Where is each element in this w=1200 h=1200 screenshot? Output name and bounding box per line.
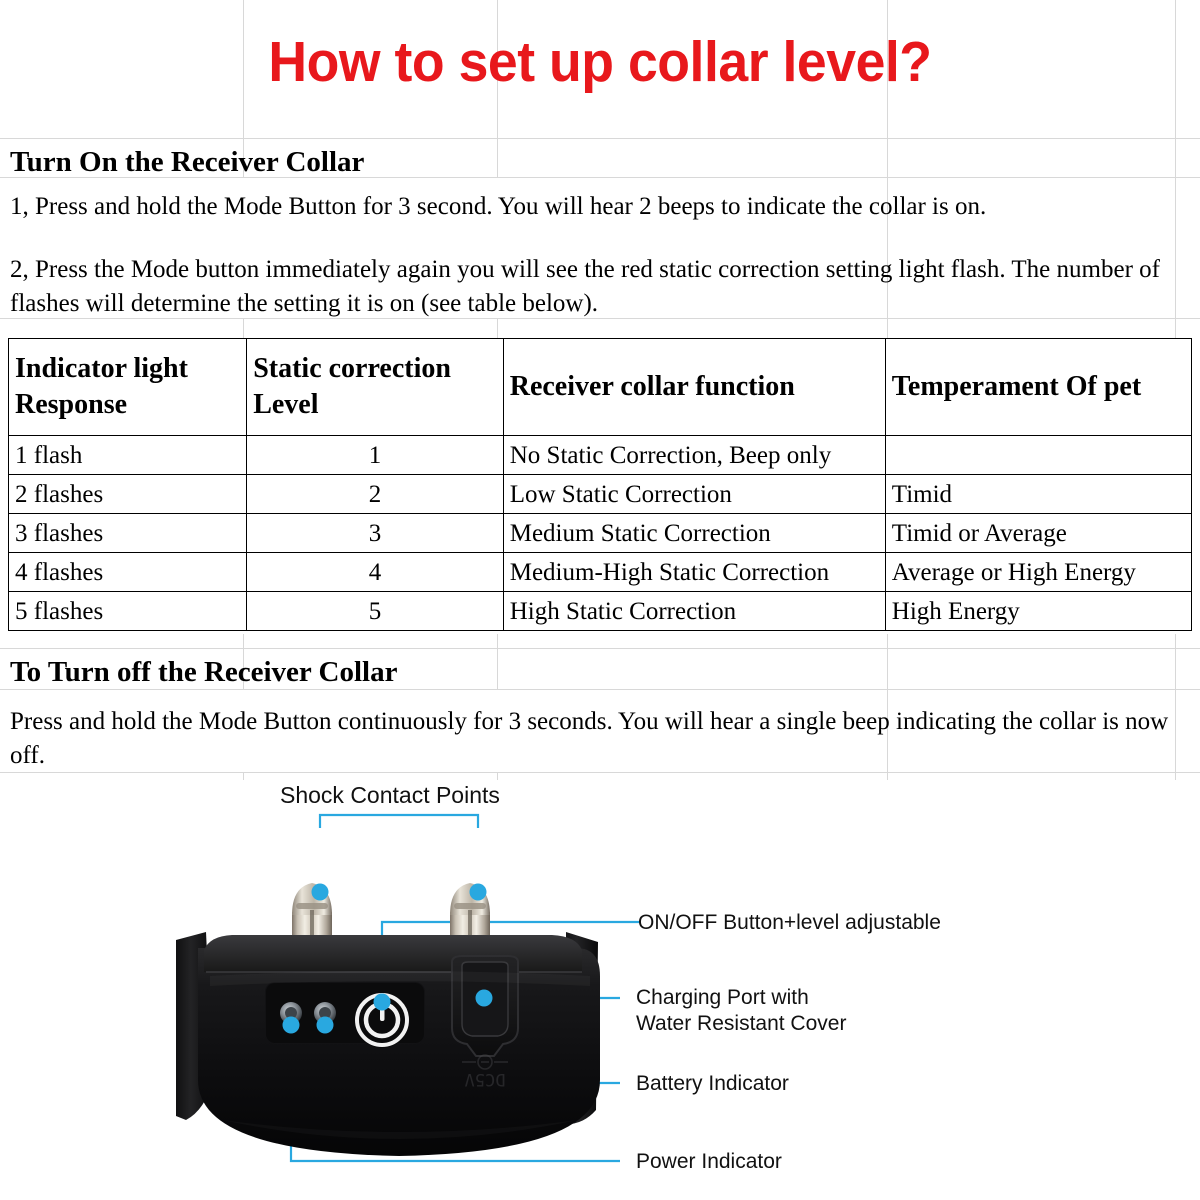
- cell-indicator: 1 flash: [9, 436, 247, 475]
- collar-illustration: DC5V: [0, 780, 1200, 1200]
- table-row: 4 flashes 4 Medium-High Static Correctio…: [9, 553, 1192, 592]
- callout-dot-contact-left: [312, 884, 329, 901]
- callout-dot-power-indicator: [283, 1017, 300, 1034]
- product-diagram: DC5V: [0, 780, 1200, 1200]
- cell-function: High Static Correction: [503, 592, 885, 631]
- gridline-vertical: [887, 634, 888, 689]
- gridline-vertical: [1175, 634, 1176, 689]
- cell-indicator: 2 flashes: [9, 475, 247, 514]
- cell-level: 3: [247, 514, 504, 553]
- table-row: 2 flashes 2 Low Static Correction Timid: [9, 475, 1192, 514]
- gridline-vertical: [497, 138, 498, 177]
- callout-dot-battery-indicator: [317, 1017, 334, 1034]
- gridline-horizontal: [0, 689, 1200, 690]
- cell-function: Low Static Correction: [503, 475, 885, 514]
- label-battery-indicator: Battery Indicator: [636, 1071, 789, 1097]
- cell-indicator: 4 flashes: [9, 553, 247, 592]
- section-heading-turn-off: To Turn off the Receiver Collar: [10, 655, 397, 689]
- cell-indicator: 5 flashes: [9, 592, 247, 631]
- paragraph-turn-off: Press and hold the Mode Button continuou…: [10, 705, 1190, 773]
- paragraph-step-2: 2, Press the Mode button immediately aga…: [10, 253, 1190, 321]
- table-body: 1 flash 1 No Static Correction, Beep onl…: [9, 436, 1192, 631]
- gridline-horizontal: [0, 648, 1200, 649]
- cell-level: 1: [247, 436, 504, 475]
- gridline-vertical: [1175, 138, 1176, 177]
- section-heading-turn-on: Turn On the Receiver Collar: [10, 145, 364, 179]
- cell-level: 4: [247, 553, 504, 592]
- callout-dot-on-off-button: [374, 994, 391, 1011]
- gridline-vertical: [1175, 0, 1176, 138]
- paragraph-step-1: 1, Press and hold the Mode Button for 3 …: [10, 190, 1190, 224]
- label-power-indicator: Power Indicator: [636, 1149, 782, 1175]
- column-header-static-correction-level: Static correction Level: [247, 339, 504, 436]
- label-on-off-button-suffix: +level adjustable: [784, 911, 941, 934]
- column-header-temperament-of-pet: Temperament Of pet: [885, 339, 1191, 436]
- table-header: Indicator light Response Static correcti…: [9, 339, 1192, 436]
- gridline-vertical: [497, 634, 498, 689]
- table-row: 5 flashes 5 High Static Correction High …: [9, 592, 1192, 631]
- cell-function: Medium Static Correction: [503, 514, 885, 553]
- cell-indicator: 3 flashes: [9, 514, 247, 553]
- table-header-row: Indicator light Response Static correcti…: [9, 339, 1192, 436]
- callout-dot-charging-port: [476, 990, 493, 1007]
- gridline-vertical: [243, 318, 244, 338]
- column-header-receiver-collar-function: Receiver collar function: [503, 339, 885, 436]
- infographic-page: How to set up collar level? Turn On the …: [0, 0, 1200, 1200]
- gridline-vertical: [887, 318, 888, 338]
- label-charging-port-line2: Water Resistant Cover: [636, 1011, 846, 1037]
- svg-text:DC5V: DC5V: [465, 1069, 506, 1089]
- column-header-indicator-light-response: Indicator light Response: [9, 339, 247, 436]
- cell-function: Medium-High Static Correction: [503, 553, 885, 592]
- table-row: 1 flash 1 No Static Correction, Beep onl…: [9, 436, 1192, 475]
- cell-temperament: High Energy: [885, 592, 1191, 631]
- cell-temperament: Timid or Average: [885, 514, 1191, 553]
- table-row: 3 flashes 3 Medium Static Correction Tim…: [9, 514, 1192, 553]
- gridline-vertical: [1175, 318, 1176, 338]
- label-on-off-button-group: ON/OFF Button+level adjustable: [638, 910, 941, 936]
- cell-temperament: Timid: [885, 475, 1191, 514]
- label-shock-contact-points: Shock Contact Points: [280, 782, 500, 808]
- cell-temperament: [885, 436, 1191, 475]
- cell-level: 2: [247, 475, 504, 514]
- gridline-vertical: [887, 138, 888, 177]
- gridline-horizontal: [0, 138, 1200, 139]
- cell-function: No Static Correction, Beep only: [503, 436, 885, 475]
- receiver-collar-device: DC5V: [176, 883, 600, 1156]
- label-on-off-button: ON/OFF Button: [638, 911, 784, 934]
- cell-temperament: Average or High Energy: [885, 553, 1191, 592]
- cell-level: 5: [247, 592, 504, 631]
- gridline-vertical: [497, 318, 498, 338]
- callout-dot-contact-right: [470, 884, 487, 901]
- page-title: How to set up collar level?: [36, 30, 1164, 94]
- label-charging-port-line1: Charging Port with: [636, 985, 809, 1011]
- collar-level-table: Indicator light Response Static correcti…: [8, 338, 1192, 631]
